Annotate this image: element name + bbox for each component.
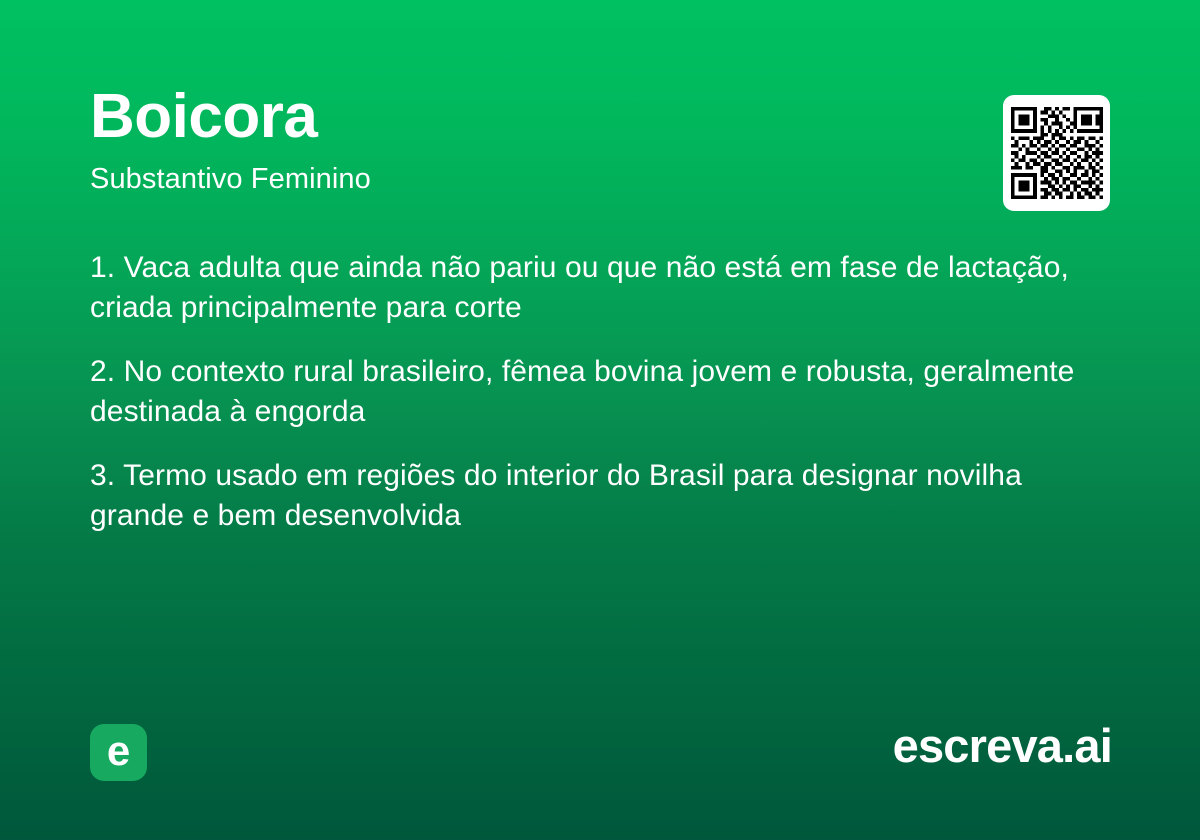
definition-item: 2. No contexto rural brasileiro, fêmea b… [90,352,1090,432]
word-class-label: Substantivo Feminino [90,165,990,194]
logo-letter-e: e [107,730,130,772]
definition-item: 3. Termo usado em regiões do interior do… [90,456,1090,536]
card-header: Boicora Substantivo Feminino [90,86,990,194]
qr-code-icon [1011,107,1103,199]
page-title: Boicora [90,86,990,148]
definition-card: Boicora Substantivo Feminino 1. Vaca adu… [0,0,1200,840]
definitions-list: 1. Vaca adulta que ainda não pariu ou qu… [90,248,1090,536]
brand-wordmark: escreva.ai [893,722,1112,769]
qr-code-card[interactable] [1003,95,1110,211]
definition-item: 1. Vaca adulta que ainda não pariu ou qu… [90,248,1090,328]
escreva-logo-badge[interactable]: e [90,724,147,781]
